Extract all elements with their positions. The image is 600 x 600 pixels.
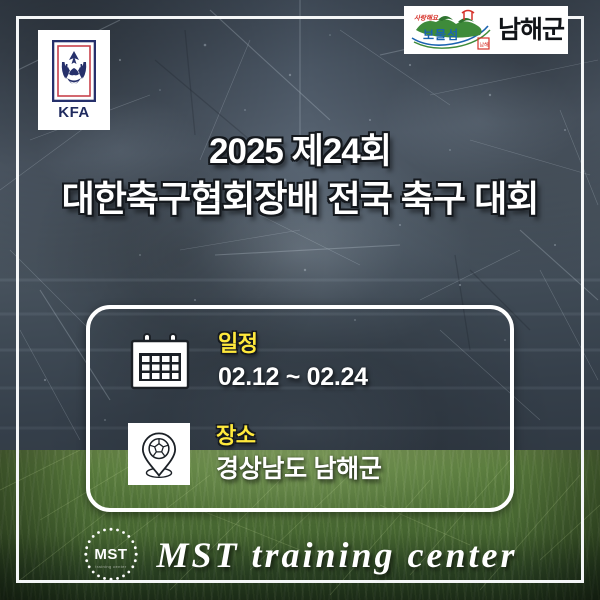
location-icon-wrap bbox=[128, 423, 190, 485]
calendar-icon bbox=[128, 333, 192, 391]
venue-label: 장소 bbox=[216, 424, 382, 448]
namhae-county-name: 남해군 bbox=[498, 18, 564, 43]
namhae-island-mark-icon: 사랑해요 보물섬 남해 bbox=[408, 8, 494, 52]
svg-text:남해: 남해 bbox=[480, 42, 490, 49]
mst-footer: MST training center MST training center bbox=[0, 526, 600, 584]
mst-wordmark: MST training center bbox=[156, 537, 517, 573]
schedule-value: 02.12 ~ 02.24 bbox=[218, 363, 368, 392]
schedule-label: 일정 bbox=[218, 332, 368, 356]
info-row-schedule: 일정 02.12 ~ 02.24 bbox=[90, 332, 510, 392]
mst-badge-icon: MST training center bbox=[82, 526, 140, 584]
kfa-logo: KFA bbox=[38, 30, 110, 130]
poster-title: 2025 제24회 대한축구협회장배 전국 축구 대회 bbox=[0, 132, 600, 220]
venue-value: 경상남도 남해군 bbox=[216, 455, 382, 484]
venue-text: 장소 경상남도 남해군 bbox=[216, 424, 382, 484]
schedule-text: 일정 02.12 ~ 02.24 bbox=[218, 332, 368, 392]
kfa-shield-icon bbox=[52, 40, 96, 102]
calendar-icon-wrap bbox=[128, 333, 192, 391]
title-line-event: 대한축구협회장배 전국 축구 대회 bbox=[0, 179, 600, 219]
mst-badge-subtext: training center bbox=[96, 564, 128, 569]
svg-text:보물섬: 보물섬 bbox=[423, 27, 459, 42]
title-line-year: 2025 제24회 bbox=[0, 132, 600, 171]
event-info-panel: 일정 02.12 ~ 02.24 장소 경상남도 남해군 bbox=[86, 305, 514, 512]
svg-text:사랑해요: 사랑해요 bbox=[414, 14, 439, 22]
mst-badge-text: MST bbox=[95, 546, 128, 563]
namhae-county-logo: 사랑해요 보물섬 남해 남해군 bbox=[404, 6, 568, 54]
tournament-poster: KFA 사랑해요 보물섬 남해 남해군 2025 제24회 대한축구협회장배 전… bbox=[0, 0, 600, 600]
kfa-label: KFA bbox=[58, 105, 90, 120]
location-pin-soccer-icon bbox=[133, 428, 185, 480]
info-row-venue: 장소 경상남도 남해군 bbox=[90, 423, 510, 485]
